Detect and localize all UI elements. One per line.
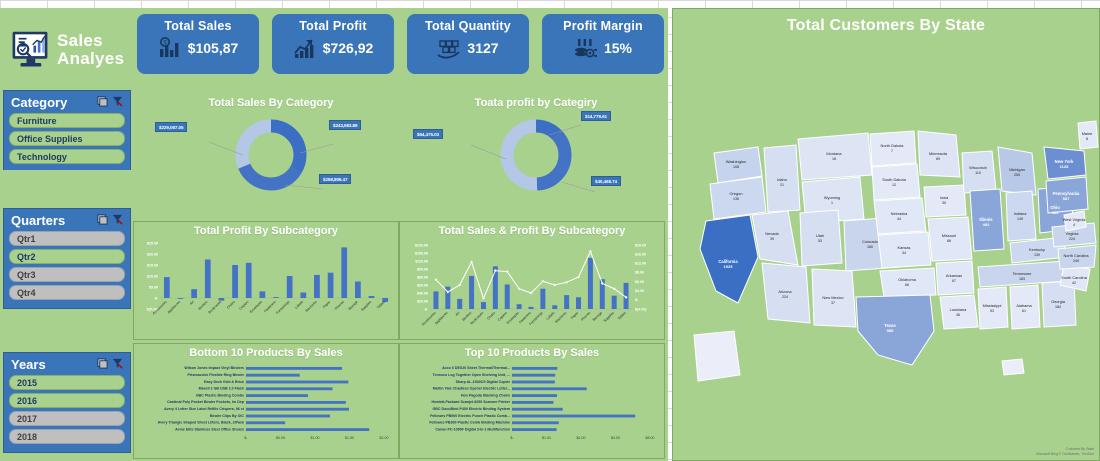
xtick-0: $- (510, 436, 514, 440)
ytick-left-6: $40.00 (417, 291, 428, 295)
chart-title: Toata profit by Categiry (405, 94, 667, 109)
state-label-nd: North Dakota (881, 143, 905, 148)
ytick-left-0: $120.00 (415, 243, 428, 247)
clear-filter-icon[interactable] (112, 357, 123, 372)
xtick-0: $- (244, 436, 248, 440)
kpi-label: Total Profit (299, 19, 366, 33)
state-value-in: 149 (1017, 217, 1023, 221)
point-14 (601, 282, 603, 284)
ytick-left-8: $- (425, 307, 429, 311)
kpi-value: $726,92 (323, 40, 374, 56)
product-label-6: GBC DocuBind P400 Electric Binding Syste… (433, 407, 510, 411)
point-0 (435, 278, 437, 280)
bar-2 (246, 381, 348, 384)
ytick-left-3: $90.00 (417, 267, 428, 271)
state-ut (800, 210, 842, 266)
state-value-mo: 66 (947, 239, 951, 243)
bar-envelopes (517, 304, 522, 309)
slicer-title: Quarters (11, 213, 65, 228)
multi-select-icon[interactable] (97, 95, 108, 110)
xtick-3: Binders (198, 300, 209, 311)
clear-filter-icon[interactable] (112, 95, 123, 110)
state-value-wy: 1 (831, 201, 833, 205)
bar-chairs (493, 266, 498, 309)
top10-svg: Acco 6 DEX20 Sheet Thermal/Thermal...Ten… (400, 359, 664, 459)
bar-art (457, 299, 462, 309)
xtick-14: Storage (592, 311, 603, 322)
slicer-item-qtr3[interactable]: Qtr3 (9, 267, 125, 282)
xtick-5: Chairs (486, 311, 496, 321)
xtick-4: $2.00 (380, 436, 389, 440)
state-value-ca: 1925 (724, 264, 734, 269)
bar-0 (512, 367, 557, 370)
slicer-quarters[interactable]: Quarters Qtr1 Qtr2 Qtr3 Qtr4 (3, 208, 131, 309)
bar-4 (512, 394, 557, 397)
state-label-mo: Missouri (942, 233, 957, 238)
ytick-right-4: $6.00 (635, 280, 644, 284)
donut-label-technology: $40,468.74 (591, 176, 621, 186)
ytick-3: $10.00 (147, 274, 158, 278)
state-value-sd: 12 (892, 183, 896, 187)
state-value-al: 61 (1022, 309, 1026, 313)
kpi-card-row: Total Sales $ $105,87 Total Profit (137, 14, 664, 74)
state-value-az: 224 (782, 295, 788, 299)
state-value-nd: 7 (891, 149, 893, 153)
xtick-4: Bookcases (470, 311, 485, 326)
state-value-va: 224 (1069, 237, 1075, 241)
bar-5 (246, 401, 346, 404)
bar-9 (512, 428, 557, 431)
product-label-9: Acme Elite Stainless Steel Office Shears (175, 427, 244, 431)
bar-labels (552, 305, 557, 309)
bar-supplies (369, 296, 375, 298)
point-3 (470, 261, 472, 263)
line-total-profit (436, 251, 626, 298)
point-1 (447, 291, 449, 293)
bar-chart-dollar-icon: $ (158, 36, 182, 60)
product-label-6: Avery 4 Letter Size Label Refills Crispe… (164, 407, 245, 411)
point-10 (554, 284, 556, 286)
kpi-value: $105,87 (188, 40, 239, 56)
xtick-7: Envelopes (506, 311, 520, 325)
state-value-id: 21 (780, 183, 784, 187)
state-value-ar: 67 (952, 279, 956, 283)
xtick-11: Machines (554, 311, 567, 324)
state-value-wv: 4 (1073, 223, 1075, 227)
state-value-wi: 110 (975, 171, 981, 175)
point-15 (613, 288, 615, 290)
kpi-value: 3127 (467, 40, 498, 56)
bar-machines (564, 295, 569, 309)
state-value-pa: 587 (1063, 196, 1070, 201)
donut-profit-svg (405, 109, 667, 201)
xtick-12: Paper (570, 310, 580, 320)
state-label-mn: Minnesota (929, 151, 948, 156)
bar-7 (512, 415, 635, 418)
point-11 (565, 281, 567, 283)
xtick-11: Machines (305, 300, 318, 313)
xtick-2: $2.00 (577, 436, 586, 440)
product-label-5: Hewlett-Packard Scanjet 8250 Scanner Pri… (432, 400, 511, 404)
state-value-la: 46 (956, 313, 960, 317)
bar-1 (246, 374, 300, 377)
state-value-nm: 37 (831, 301, 835, 305)
chart-bottom-10-products-by-sales[interactable]: Bottom 10 Products By Sales Wilson Jones… (133, 343, 399, 459)
state-ks (878, 232, 931, 268)
product-label-8: Fellowes PB300 Plastic Comb Binding Mach… (429, 421, 510, 425)
state-label-ne: Nebraska (891, 211, 908, 216)
state-value-nc: 249 (1073, 259, 1079, 263)
slicer-item-office-supplies[interactable]: Office Supplies (9, 131, 125, 146)
map-title: Total Customers By State (672, 8, 1100, 35)
xtick-2: Art (455, 311, 461, 317)
slicer-item-2018[interactable]: 2018 (9, 429, 125, 444)
slicer-title: Category (11, 95, 67, 110)
bar-5 (512, 401, 553, 404)
clear-filter-icon[interactable] (112, 213, 123, 228)
xtick-10: Labels (294, 300, 304, 310)
map-credit: Customer By State Microsoft Bing © GeoNa… (1036, 447, 1094, 457)
ytick-left-7: $20.00 (417, 299, 428, 303)
state-label-ms: Mississippi (983, 303, 1002, 308)
kpi-card-profit-margin[interactable]: Profit Margin 15% (542, 14, 664, 74)
ytick-right-0: $20.00 (635, 243, 646, 247)
state-tx (856, 295, 934, 365)
xtick-2: Art (189, 300, 195, 306)
product-label-3: Martin Yale Chadless Opener Electric Let… (433, 387, 510, 391)
state-value-ms: 53 (990, 309, 994, 313)
xtick-12: Paper (322, 299, 332, 309)
map-total-customers-by-state[interactable]: Total Customers By State (672, 8, 1100, 461)
state-value-mt: 18 (832, 157, 836, 161)
bar-4 (246, 394, 308, 397)
state-label-co: Colorado (862, 239, 878, 244)
kpi-card-total-profit[interactable]: Total Profit $726,92 (272, 14, 394, 74)
bar-phones (588, 258, 593, 309)
boxes-hand-icon (437, 36, 461, 60)
chart-top-10-products-by-sales[interactable]: Top 10 Products By Sales Acco 6 DEX20 Sh… (399, 343, 665, 459)
point-8 (530, 292, 532, 294)
bar-appliances (178, 298, 184, 299)
map-credit-line-2: Microsoft Bing © GeoNames, TomTom (1036, 452, 1094, 457)
state-label-ia: Iowa (940, 195, 949, 200)
state-label-ga: Georgia (1051, 299, 1066, 304)
state-label-ar: Arkansas (946, 273, 962, 278)
xtick-1: $1.00 (542, 436, 551, 440)
chart-title: Total Sales & Profit By Subcategory (400, 222, 664, 237)
xtick-7: Envelopes (249, 300, 263, 314)
ytick-left-4: $80.00 (417, 275, 428, 279)
product-label-2: Easy Deck Grid & Brick (204, 380, 244, 384)
bar-fasteners (529, 307, 534, 309)
point-13 (589, 250, 591, 252)
product-label-9: Canon PC-1080F Digital 3-in-1 Multifunct… (435, 427, 510, 431)
bar-phones (341, 247, 347, 298)
bar-bookcases (481, 302, 486, 309)
dashboard-title: Sales Analyes (57, 32, 124, 68)
state-ar (936, 261, 974, 295)
product-label-5: Cardinal Poly Pocket Binder Pockets, Im … (167, 400, 245, 404)
product-label-1: Prismacolor Flexible Ring Binder (187, 373, 244, 377)
state-label-al: Alabama (1016, 303, 1032, 308)
state-label-ks: Kansas (898, 245, 911, 250)
state-value-tn: 183 (1019, 277, 1025, 281)
donut-label-furniture: $229,087.05 (155, 122, 187, 132)
slicer-header: Quarters (9, 212, 125, 231)
state-value-tx: 985 (887, 328, 894, 333)
slicer-item-qtr2[interactable]: Qtr2 (9, 249, 125, 264)
ytick-2: $15.00 (147, 263, 158, 267)
state-value-il: 492 (983, 222, 990, 227)
state-la (940, 295, 978, 329)
bar-envelopes (259, 291, 265, 298)
chart-title: Top 10 Products By Sales (400, 344, 664, 359)
bottom10-svg: Wilson Jones Impact Vinyl BindersPrismac… (134, 359, 398, 459)
state-label-nv: Nevada (765, 231, 779, 236)
state-value-or: 136 (733, 197, 739, 201)
bar-paper (576, 297, 581, 309)
state-label-id: Idaho (777, 177, 787, 182)
bar-art (191, 289, 197, 298)
state-value-mi: 255 (1014, 173, 1020, 177)
product-label-0: Acco 6 DEX20 Sheet Thermal/Thermal... (442, 366, 510, 370)
point-12 (577, 276, 579, 278)
slicer-category[interactable]: Category Furniture Office Supplies Techn… (3, 90, 131, 173)
ytick-4: $5.00 (149, 285, 158, 289)
bar-storage (355, 282, 361, 299)
ytick-right-6: $- (635, 298, 639, 302)
bar-binders (469, 276, 474, 309)
state-label-tn: Tennessee (1013, 271, 1032, 276)
donut-label-office-supplies: $54,475.03 (413, 129, 443, 139)
product-label-7: Binder Clips By OIC (210, 414, 245, 418)
xtick-4: $8.00 (646, 436, 655, 440)
xtick-3: $4.00 (611, 436, 620, 440)
xtick-10: Labels (546, 311, 556, 321)
product-label-7: Fellowes PB500 Electric Punch Plastic Co… (430, 414, 510, 418)
chart-total-profit-by-category[interactable]: Toata profit by Categiry $14,779.61 $54,… (405, 94, 667, 206)
state-label-wy: Wyoming (824, 195, 840, 200)
state-value-ut: 53 (818, 239, 822, 243)
slicer-item-2016[interactable]: 2016 (9, 393, 125, 408)
state-value-sc: 42 (1072, 281, 1076, 285)
chart-total-profit-by-subcategory[interactable]: Total Profit By Subcategory $25.00$20.00… (133, 221, 399, 340)
xtick-9: Furnishings (275, 300, 290, 315)
donut-label-office-supplies: $258,806.47 (319, 174, 351, 184)
slicer-item-qtr1[interactable]: Qtr1 (9, 231, 125, 246)
ytick-right-2: $12.00 (635, 262, 646, 266)
state-value-wa: 108 (733, 165, 739, 169)
state-label-in: Indiana (1014, 211, 1028, 216)
slicer-item-furniture[interactable]: Furniture (9, 113, 125, 128)
bar-0 (246, 367, 342, 370)
sales-profit-subcategory-svg: $120.00$100.00$110.00$90.00$80.00$60.00$… (400, 237, 664, 340)
ytick-left-5: $60.00 (417, 283, 428, 287)
state-label-ky: Kentucky (1029, 247, 1045, 252)
xtick-1: $0.05 (276, 436, 285, 440)
bar-binders (205, 260, 211, 299)
state-label-or: Oregon (730, 191, 743, 196)
state-label-sd: South Dakota (882, 177, 906, 182)
state-ne (874, 198, 926, 234)
state-label-wv: West Virginia (1063, 217, 1087, 222)
xtick-1: Appliances (167, 300, 182, 315)
state-label-va: Virginia (1066, 231, 1080, 236)
profit-growth-icon (293, 36, 317, 60)
bar-fasteners (273, 297, 279, 298)
bar-8 (512, 421, 559, 424)
state-sd (872, 164, 920, 200)
state-value-me: 8 (1086, 137, 1088, 141)
bar-labels (300, 293, 306, 299)
product-label-1: Tennsco Log Together Open Shelving Unit,… (433, 373, 510, 377)
logo-line-1: Sales (57, 31, 103, 50)
state-label-az: Arizona (778, 289, 792, 294)
state-value-ne: 44 (897, 217, 901, 221)
slicer-header: Category (9, 94, 125, 113)
point-16 (625, 296, 627, 298)
slicer-item-technology[interactable]: Technology (9, 149, 125, 164)
product-label-4: GBC Plastic Binding Combs (196, 393, 244, 397)
logo-line-2: Analyes (57, 49, 124, 68)
bar-copiers (505, 284, 510, 309)
xtick-5: Chairs (226, 300, 236, 310)
state-label-mt: Montana (826, 151, 842, 156)
state-nd (870, 131, 916, 166)
state-value-oh: 469 (1052, 210, 1059, 215)
xtick-6: Copiers (238, 300, 249, 311)
product-label-0: Wilson Jones Impact Vinyl Binders (184, 366, 244, 370)
slicer-spacer (3, 170, 131, 207)
chart-title: Total Profit By Subcategory (134, 222, 398, 237)
ytick-right-3: $8.00 (635, 271, 644, 275)
bar-3 (246, 387, 333, 390)
chart-total-sales-and-profit-by-subcategory[interactable]: Total Sales & Profit By Subcategory $120… (399, 221, 665, 340)
state-label-wa: Washington (726, 159, 746, 164)
bar-supplies (612, 296, 617, 309)
product-label-8: Avery Triangle Shaped Sheet Lifters, Bla… (158, 421, 244, 425)
kpi-card-total-sales[interactable]: Total Sales $ $105,87 (137, 14, 259, 74)
ytick-right-1: $16.00 (635, 252, 646, 256)
donut-label-furniture: $14,779.61 (581, 111, 611, 121)
coins-margin-icon (574, 36, 598, 60)
slicer-item-2015[interactable]: 2015 (9, 375, 125, 390)
kpi-value: 15% (604, 40, 632, 56)
xtick-3: $1.50 (345, 436, 354, 440)
point-4 (482, 297, 484, 299)
chart-title: Total Sales By Category (137, 94, 405, 109)
slicer-header: Years (9, 356, 125, 375)
state-value-ky: 139 (1034, 253, 1040, 257)
kpi-card-total-quantity[interactable]: Total Quantity 3127 (407, 14, 529, 74)
state-hi (1002, 359, 1024, 375)
point-5 (494, 269, 496, 271)
bar-machines (314, 275, 320, 298)
state-value-ks: 34 (902, 251, 906, 255)
point-2 (459, 284, 461, 286)
slicer-item-2017[interactable]: 2017 (9, 411, 125, 426)
state-value-ok: 66 (905, 283, 909, 287)
xtick-13: Phones (580, 311, 591, 322)
multi-select-icon[interactable] (97, 357, 108, 372)
state-value-co: 180 (867, 245, 873, 249)
state-label-nm: New Mexico (822, 295, 843, 300)
donut-label-technology: $243,583.89 (329, 120, 361, 130)
state-ak (694, 331, 740, 381)
bar-furnishings (287, 276, 293, 298)
ytick-5: $- (155, 296, 159, 300)
ytick-right-7: $(4.00) (635, 307, 647, 311)
product-label-4: Hon Pagoda Stacking Chairs (461, 393, 510, 397)
product-label-3: Maxell 2 GB USB 2.0 Flash (199, 387, 244, 391)
xtick-1: Appliances (434, 311, 449, 326)
state-label-nc: North Carolina (1063, 253, 1089, 258)
bar-9 (246, 428, 369, 431)
bar-furnishings (540, 289, 545, 309)
kpi-label: Profit Margin (563, 19, 643, 33)
ytick-1: $20.00 (147, 252, 158, 256)
bar-6 (246, 408, 349, 411)
bar-2 (512, 381, 555, 384)
bar-accessories (164, 277, 170, 298)
xtick-16: Tables (617, 311, 627, 321)
state-value-nv: 39 (770, 237, 774, 241)
xtick-15: Supplies (360, 300, 372, 312)
bar-copiers (246, 263, 252, 298)
state-label-ut: Utah (816, 233, 824, 238)
us-choropleth-map[interactable]: Washington108Oregon136California1925Neva… (672, 35, 1100, 455)
state-value-ia: 30 (942, 201, 946, 205)
point-9 (542, 280, 544, 282)
bar-1 (512, 374, 555, 377)
slicer-item-qtr4[interactable]: Qtr4 (9, 285, 125, 300)
state-value-ny: 1128 (1060, 164, 1069, 169)
profit-subcategory-svg: $25.00$20.00$15.00$10.00$5.00$-$(5.00)Ac… (134, 237, 398, 340)
state-in (1006, 191, 1036, 241)
state-label-me: Maine (1082, 131, 1093, 136)
xtick-13: Phones (334, 300, 345, 311)
xtick-15: Supplies (603, 311, 615, 323)
ytick-0: $25.00 (147, 241, 158, 245)
xtick-4: Bookcases (208, 300, 223, 315)
kpi-label: Total Quantity (425, 19, 511, 33)
ytick-left-2: $110.00 (415, 259, 428, 263)
kpi-label: Total Sales (164, 19, 231, 33)
bar-3 (512, 387, 587, 390)
ytick-right-5: $4.00 (635, 289, 644, 293)
state-label-mi: Michigan (1009, 167, 1025, 172)
bar-8 (246, 421, 285, 424)
product-label-2: Sharp AL-1530CS Digital Copier (456, 380, 511, 384)
state-nv (752, 211, 798, 265)
chart-total-sales-by-category[interactable]: Total Sales By Category $229,087.05 $243… (137, 94, 405, 206)
chart-title: Bottom 10 Products By Sales (134, 344, 398, 359)
bar-chairs (232, 265, 238, 298)
state-value-mn: 89 (936, 157, 940, 161)
state-label-sc: South Carolina (1061, 275, 1088, 280)
state-label-wi: Wisconsin (969, 165, 987, 170)
bar-accessories (433, 291, 438, 309)
xtick-2: $1.00 (311, 436, 320, 440)
slicer-years[interactable]: Years 2015 2016 2017 2018 (3, 352, 131, 453)
bar-paper (328, 273, 334, 298)
state-value-ga: 184 (1055, 305, 1061, 309)
dashboard-analytics-icon (9, 30, 51, 70)
ytick-left-1: $100.00 (415, 251, 428, 255)
multi-select-icon[interactable] (97, 213, 108, 228)
bar-6 (512, 408, 563, 411)
point-7 (518, 288, 520, 290)
